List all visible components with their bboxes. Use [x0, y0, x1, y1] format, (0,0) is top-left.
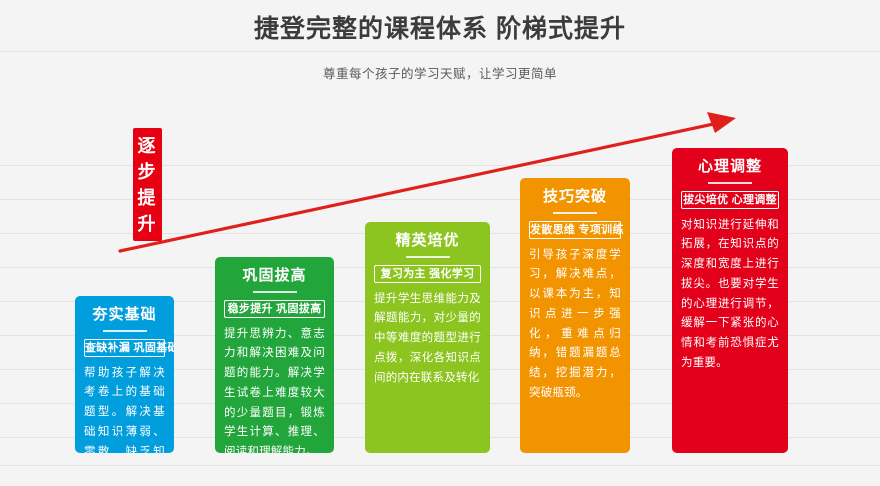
stage-body: 帮助孩子解决考卷上的基础题型。解决基础知识薄弱、零散、缺乏知识脉络、不能交叉运用…: [84, 364, 165, 454]
stage-bars: 夯实基础 查缺补漏 巩固基础 帮助孩子解决考卷上的基础题型。解决基础知识薄弱、零…: [0, 0, 880, 486]
stage-badge: 稳步提升 巩固拔高: [224, 300, 325, 318]
stage-title: 精英培优: [374, 231, 481, 251]
stage-body: 引导孩子深度学习，解决难点，以课本为主，知识点进一步强化，重难点归纳，错题漏题总…: [529, 246, 621, 404]
title-divider: [103, 330, 147, 332]
stage-badge: 发散思维 专项训练: [529, 221, 621, 239]
title-divider: [406, 256, 450, 258]
stage-badge: 拔尖培优 心理调整: [681, 191, 779, 209]
stage-bar-2[interactable]: 巩固拔高 稳步提升 巩固拔高 提升思辨力、意志力和解决困难及问题的能力。解决学生…: [215, 257, 334, 453]
stage-title: 巩固拔高: [224, 266, 325, 286]
stage-title: 心理调整: [681, 157, 779, 177]
stage-bar-5[interactable]: 心理调整 拔尖培优 心理调整 对知识进行延伸和拓展，在知识点的深度和宽度上进行拔…: [672, 148, 788, 453]
stage-bar-3[interactable]: 精英培优 复习为主 强化学习 提升学生思维能力及解题能力，对少量的中等难度的题型…: [365, 222, 490, 453]
stage-body: 提升学生思维能力及解题能力，对少量的中等难度的题型进行点拨，深化各知识点间的内在…: [374, 290, 481, 389]
stage-bar-4[interactable]: 技巧突破 发散思维 专项训练 引导孩子深度学习，解决难点，以课本为主，知识点进一…: [520, 178, 630, 453]
title-divider: [253, 291, 297, 293]
title-divider: [553, 212, 597, 214]
stage-bar-1[interactable]: 夯实基础 查缺补漏 巩固基础 帮助孩子解决考卷上的基础题型。解决基础知识薄弱、零…: [75, 296, 174, 453]
stage-title: 技巧突破: [529, 187, 621, 207]
stage-title: 夯实基础: [84, 305, 165, 325]
stage-badge: 查缺补漏 巩固基础: [84, 339, 165, 357]
stage-badge: 复习为主 强化学习: [374, 265, 481, 283]
infographic-stage: 捷登完整的课程体系 阶梯式提升 尊重每个孩子的学习天赋，让学习更简单 逐 步 提…: [0, 0, 880, 486]
title-divider: [708, 182, 752, 184]
stage-body: 提升思辨力、意志力和解决困难及问题的能力。解决学生试卷上难度较大的少量题目，锻炼…: [224, 325, 325, 454]
stage-body: 对知识进行延伸和拓展，在知识点的深度和宽度上进行拔尖。也要对学生的心理进行调节，…: [681, 216, 779, 374]
